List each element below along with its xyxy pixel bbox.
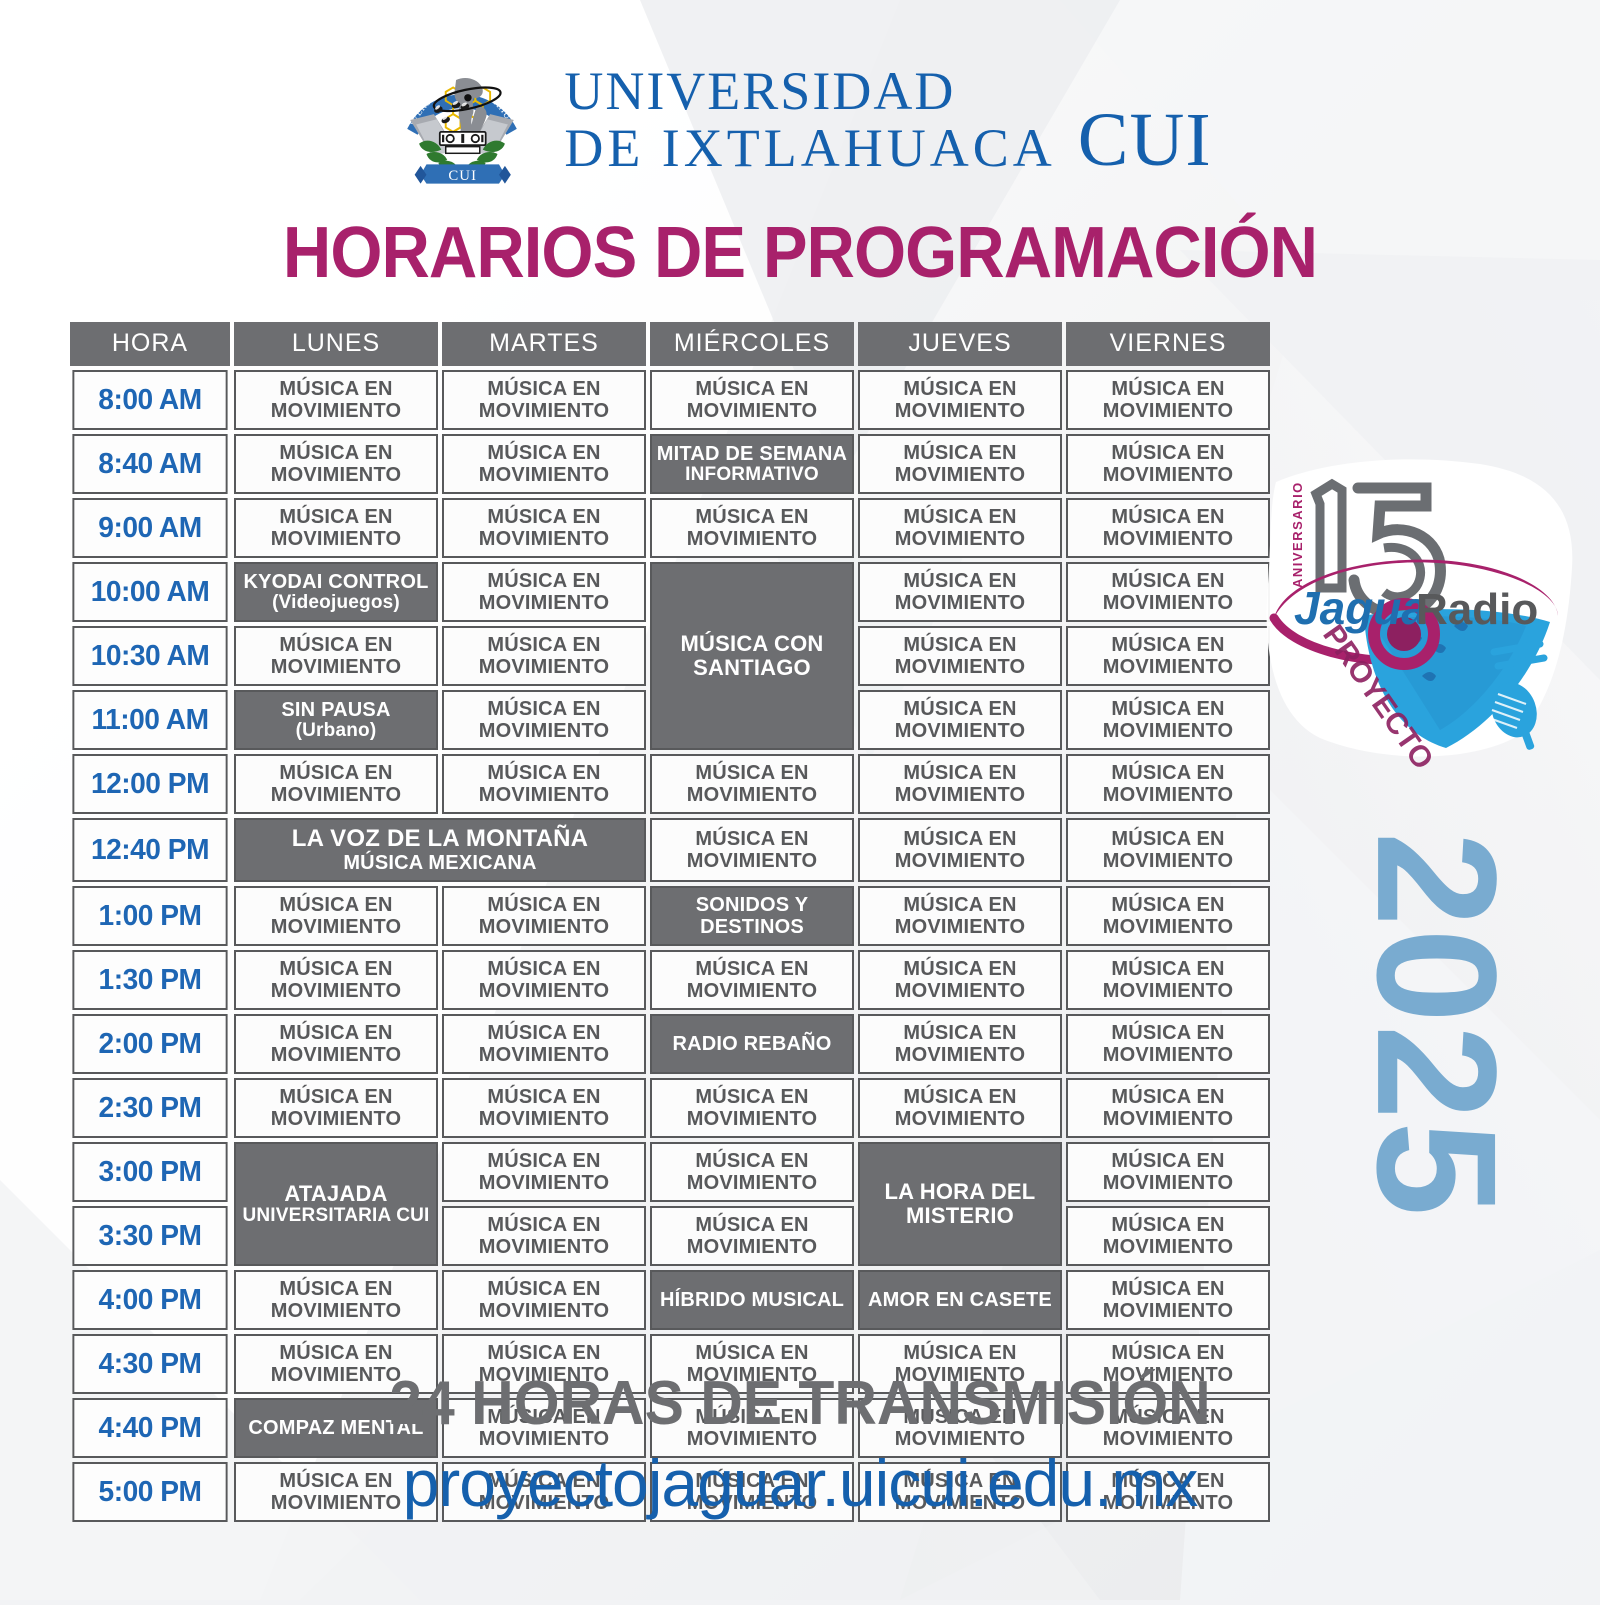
time-cell: 8:00 AM [72,370,227,430]
program-title: MÚSICA EN MOVIMIENTO [479,894,610,938]
program-cell: MÚSICA EN MOVIMIENTO [650,754,854,814]
program-cell: MÚSICA EN MOVIMIENTO [858,626,1062,686]
program-title: MÚSICA EN MOVIMIENTO [687,1214,818,1258]
program-cell: MÚSICA EN MOVIMIENTO [234,498,438,558]
program-cell: MÚSICA EN MOVIMIENTO [1066,562,1270,622]
time-cell: 2:30 PM [72,1078,227,1138]
program-title: MÚSICA EN MOVIMIENTO [479,1278,610,1322]
program-cell: MÚSICA EN MOVIMIENTO [650,498,854,558]
column-header-hora: HORA [70,322,230,366]
programming-schedule-table: HORALUNESMARTESMIÉRCOLESJUEVESVIERNES 8:… [66,318,1274,1526]
program-title: MÚSICA EN MOVIMIENTO [895,958,1026,1002]
table-body: 8:00 AMMÚSICA EN MOVIMIENTOMÚSICA EN MOV… [70,370,1270,1522]
program-title: LA VOZ DE LA MONTAÑA [292,825,588,852]
program-title: ATAJADA [284,1181,387,1206]
table-row: 8:40 AMMÚSICA EN MOVIMIENTOMÚSICA EN MOV… [70,434,1270,494]
program-title: MÚSICA EN MOVIMIENTO [1103,1150,1234,1194]
program-cell: MÚSICA EN MOVIMIENTO [650,1142,854,1202]
table-row: 9:00 AMMÚSICA EN MOVIMIENTOMÚSICA EN MOV… [70,498,1270,558]
program-title: MÚSICA EN MOVIMIENTO [479,698,610,742]
program-title: MÚSICA EN MOVIMIENTO [479,378,610,422]
program-title: MÚSICA EN MOVIMIENTO [271,1086,402,1130]
program-title: MÚSICA EN MOVIMIENTO [479,1214,610,1258]
program-cell: MÚSICA EN MOVIMIENTO [1066,498,1270,558]
program-cell: MÚSICA EN MOVIMIENTO [858,562,1062,622]
table-row: 2:00 PMMÚSICA EN MOVIMIENTOMÚSICA EN MOV… [70,1014,1270,1074]
program-title: MÚSICA EN MOVIMIENTO [479,1150,610,1194]
program-title: MÚSICA EN MOVIMIENTO [1103,634,1234,678]
program-title: MÚSICA EN MOVIMIENTO [271,506,402,550]
university-header: UNIVERSIDAD DE IXTLAHUACA [0,40,1600,200]
program-cell: MÚSICA EN MOVIMIENTO [1066,1142,1270,1202]
column-header-jueves: JUEVES [858,322,1062,366]
time-cell: 12:40 PM [72,818,227,882]
program-title: MITAD DE SEMANA [657,443,847,465]
column-header-lunes: LUNES [234,322,438,366]
jaguar-radio-wordmark: Jagua Radio [1294,582,1538,634]
program-title: MÚSICA EN MOVIMIENTO [895,828,1026,872]
university-wordmark: UNIVERSIDAD DE IXTLAHUACA CUI [564,64,1211,176]
time-cell: 11:00 AM [72,690,227,750]
page-title: HORARIOS DE PROGRAMACIÓN [56,212,1544,294]
year-text: 2025 [1338,832,1534,1218]
program-cell: MÚSICA EN MOVIMIENTO [234,434,438,494]
program-title: MÚSICA EN MOVIMIENTO [271,958,402,1002]
program-cell: MÚSICA EN MOVIMIENTO [858,434,1062,494]
program-cell: MÚSICA EN MOVIMIENTO [1066,1206,1270,1266]
program-title: MÚSICA EN MOVIMIENTO [1103,894,1234,938]
schedule-table-container: HORALUNESMARTESMIÉRCOLESJUEVESVIERNES 8:… [66,318,1248,1526]
time-cell: 10:00 AM [72,562,227,622]
program-title: MÚSICA EN MOVIMIENTO [1103,1086,1234,1130]
jaguar-radio-logo: ANIVERSARIO Jagua Radio PROYECTO [1258,448,1588,768]
program-title: MÚSICA EN MOVIMIENTO [895,442,1026,486]
program-cell: MÚSICA EN MOVIMIENTO [858,818,1062,882]
program-title: MÚSICA EN MOVIMIENTO [1103,828,1234,872]
program-cell: MÚSICA EN MOVIMIENTO [442,950,646,1010]
program-subtitle: (Videojuegos) [239,593,433,614]
program-title: MÚSICA EN MOVIMIENTO [687,762,818,806]
program-cell: MÚSICA EN MOVIMIENTO [234,1078,438,1138]
program-cell-special: KYODAI CONTROL(Videojuegos) [234,562,438,622]
program-cell: MÚSICA EN MOVIMIENTO [442,1142,646,1202]
program-cell: MÚSICA EN MOVIMIENTO [858,886,1062,946]
program-title: MÚSICA EN MOVIMIENTO [1103,1278,1234,1322]
program-cell: MÚSICA EN MOVIMIENTO [1066,818,1270,882]
program-cell: MÚSICA EN MOVIMIENTO [858,1078,1062,1138]
program-cell: MÚSICA EN MOVIMIENTO [234,754,438,814]
program-cell: MÚSICA EN MOVIMIENTO [1066,1014,1270,1074]
university-name-line2: DE IXTLAHUACA [564,121,1055,176]
program-cell: MÚSICA EN MOVIMIENTO [1066,1270,1270,1330]
program-cell-special: HÍBRIDO MUSICAL [650,1270,854,1330]
crest-ribbon-text: CUI [449,168,478,184]
program-title: MÚSICA EN MOVIMIENTO [1103,762,1234,806]
university-abbrev: CUI [1078,107,1212,176]
table-row: 1:00 PMMÚSICA EN MOVIMIENTOMÚSICA EN MOV… [70,886,1270,946]
program-cell-special: LA HORA DEL MISTERIO [858,1142,1062,1266]
table-row: 12:00 PMMÚSICA EN MOVIMIENTOMÚSICA EN MO… [70,754,1270,814]
program-cell: MÚSICA EN MOVIMIENTO [442,498,646,558]
time-cell: 10:30 AM [72,626,227,686]
program-cell: MÚSICA EN MOVIMIENTO [650,1078,854,1138]
program-title: MÚSICA EN MOVIMIENTO [687,958,818,1002]
program-title: MÚSICA CON SANTIAGO [681,631,824,680]
time-cell: 8:40 AM [72,434,227,494]
program-cell: MÚSICA EN MOVIMIENTO [650,818,854,882]
program-cell-special: ATAJADAUNIVERSITARIA CUI [234,1142,438,1266]
program-title: MÚSICA EN MOVIMIENTO [895,698,1026,742]
program-cell: MÚSICA EN MOVIMIENTO [650,950,854,1010]
program-title: MÚSICA EN MOVIMIENTO [271,762,402,806]
program-title: MÚSICA EN MOVIMIENTO [687,828,818,872]
program-subtitle: UNIVERSITARIA CUI [239,1206,433,1227]
program-title: SONIDOS Y DESTINOS [696,894,809,938]
university-name-line1: UNIVERSIDAD [564,64,1055,119]
time-cell: 1:30 PM [72,950,227,1010]
program-subtitle: INFORMATIVO [655,465,849,486]
program-cell: MÚSICA EN MOVIMIENTO [1066,370,1270,430]
program-title: MÚSICA EN MOVIMIENTO [479,1022,610,1066]
program-title: MÚSICA EN MOVIMIENTO [687,506,818,550]
logo-name-part2: Radio [1416,585,1538,634]
program-title: MÚSICA EN MOVIMIENTO [479,958,610,1002]
program-cell: MÚSICA EN MOVIMIENTO [442,1078,646,1138]
program-title: MÚSICA EN MOVIMIENTO [895,570,1026,614]
column-header-martes: MARTES [442,322,646,366]
program-title: MÚSICA EN MOVIMIENTO [687,378,818,422]
program-cell: MÚSICA EN MOVIMIENTO [1066,950,1270,1010]
program-cell-special: SIN PAUSA(Urbano) [234,690,438,750]
program-title: KYODAI CONTROL [243,571,428,593]
broadcast-hours-text: 24 HORAS DE TRANSMISIÓN [40,1368,1560,1439]
program-title: MÚSICA EN MOVIMIENTO [1103,958,1234,1002]
program-title: MÚSICA EN MOVIMIENTO [479,762,610,806]
program-title: MÚSICA EN MOVIMIENTO [895,1086,1026,1130]
time-cell: 4:00 PM [72,1270,227,1330]
program-cell-special: RADIO REBAÑO [650,1014,854,1074]
program-title: MÚSICA EN MOVIMIENTO [271,442,402,486]
program-cell-special: LA VOZ DE LA MONTAÑAMÚSICA MEXICANA [234,818,646,882]
program-cell: MÚSICA EN MOVIMIENTO [442,1206,646,1266]
program-cell: MÚSICA EN MOVIMIENTO [858,1014,1062,1074]
program-subtitle: (Urbano) [239,721,433,742]
year-label: 2025 [1286,800,1586,1250]
program-title: LA HORA DEL MISTERIO [885,1179,1036,1228]
program-cell-special: MITAD DE SEMANAINFORMATIVO [650,434,854,494]
footer: 24 HORAS DE TRANSMISIÓN proyectojaguar.u… [0,1368,1600,1521]
program-title: MÚSICA EN MOVIMIENTO [895,894,1026,938]
program-title: MÚSICA EN MOVIMIENTO [271,634,402,678]
program-cell: MÚSICA EN MOVIMIENTO [442,434,646,494]
time-cell: 3:00 PM [72,1142,227,1202]
anniversary-word: ANIVERSARIO [1290,481,1305,588]
program-cell: MÚSICA EN MOVIMIENTO [650,370,854,430]
program-cell: MÚSICA EN MOVIMIENTO [1066,690,1270,750]
table-header-row: HORALUNESMARTESMIÉRCOLESJUEVESVIERNES [70,322,1270,366]
program-cell: MÚSICA EN MOVIMIENTO [442,370,646,430]
program-cell: MÚSICA EN MOVIMIENTO [858,950,1062,1010]
program-cell: MÚSICA EN MOVIMIENTO [234,370,438,430]
program-cell: MÚSICA EN MOVIMIENTO [1066,886,1270,946]
program-title: MÚSICA EN MOVIMIENTO [1103,1214,1234,1258]
program-cell: MÚSICA EN MOVIMIENTO [1066,754,1270,814]
time-cell: 3:30 PM [72,1206,227,1266]
program-title: MÚSICA EN MOVIMIENTO [271,1022,402,1066]
program-cell: MÚSICA EN MOVIMIENTO [442,562,646,622]
program-title: MÚSICA EN MOVIMIENTO [1103,698,1234,742]
program-title: MÚSICA EN MOVIMIENTO [895,634,1026,678]
program-title: RADIO REBAÑO [672,1033,831,1055]
program-title: MÚSICA EN MOVIMIENTO [479,506,610,550]
program-cell-special: AMOR EN CASETE [858,1270,1062,1330]
program-cell: MÚSICA EN MOVIMIENTO [442,690,646,750]
website-url[interactable]: proyectojaguar.uicui.edu.mx [0,1445,1600,1521]
program-title: MÚSICA EN MOVIMIENTO [1103,506,1234,550]
program-title: MÚSICA EN MOVIMIENTO [271,1278,402,1322]
time-cell: 12:00 PM [72,754,227,814]
program-cell: MÚSICA EN MOVIMIENTO [442,754,646,814]
program-cell: MÚSICA EN MOVIMIENTO [234,950,438,1010]
time-cell: 9:00 AM [72,498,227,558]
program-cell-special: SONIDOS Y DESTINOS [650,886,854,946]
program-title: HÍBRIDO MUSICAL [660,1289,844,1311]
table-row: 12:40 PMLA VOZ DE LA MONTAÑAMÚSICA MEXIC… [70,818,1270,882]
column-header-viernes: VIERNES [1066,322,1270,366]
program-title: MÚSICA EN MOVIMIENTO [895,762,1026,806]
program-title: MÚSICA EN MOVIMIENTO [1103,570,1234,614]
time-cell: 2:00 PM [72,1014,227,1074]
program-cell: MÚSICA EN MOVIMIENTO [1066,1078,1270,1138]
program-cell: MÚSICA EN MOVIMIENTO [1066,434,1270,494]
program-cell: MÚSICA EN MOVIMIENTO [858,690,1062,750]
program-cell: MÚSICA EN MOVIMIENTO [442,626,646,686]
time-cell: 1:00 PM [72,886,227,946]
program-title: MÚSICA EN MOVIMIENTO [1103,1022,1234,1066]
program-cell: MÚSICA EN MOVIMIENTO [442,1014,646,1074]
program-title: MÚSICA EN MOVIMIENTO [271,894,402,938]
program-cell: MÚSICA EN MOVIMIENTO [858,498,1062,558]
program-cell: MÚSICA EN MOVIMIENTO [442,1270,646,1330]
program-title: MÚSICA EN MOVIMIENTO [895,506,1026,550]
program-title: MÚSICA EN MOVIMIENTO [687,1150,818,1194]
program-title: MÚSICA EN MOVIMIENTO [479,634,610,678]
program-title: MÚSICA EN MOVIMIENTO [479,442,610,486]
program-subtitle: MÚSICA MEXICANA [239,852,641,874]
table-row: 1:30 PMMÚSICA EN MOVIMIENTOMÚSICA EN MOV… [70,950,1270,1010]
logo-name-part1: Jagua [1294,582,1427,634]
program-title: MÚSICA EN MOVIMIENTO [895,1022,1026,1066]
program-cell: MÚSICA EN MOVIMIENTO [234,886,438,946]
program-cell: MÚSICA EN MOVIMIENTO [234,1014,438,1074]
program-title: MÚSICA EN MOVIMIENTO [271,378,402,422]
program-title: MÚSICA EN MOVIMIENTO [479,570,610,614]
program-cell: MÚSICA EN MOVIMIENTO [858,370,1062,430]
program-title: MÚSICA EN MOVIMIENTO [479,1086,610,1130]
table-row: 4:00 PMMÚSICA EN MOVIMIENTOMÚSICA EN MOV… [70,1270,1270,1330]
table-row: 3:00 PMATAJADAUNIVERSITARIA CUIMÚSICA EN… [70,1142,1270,1202]
program-cell: MÚSICA EN MOVIMIENTO [442,886,646,946]
table-row: 8:00 AMMÚSICA EN MOVIMIENTOMÚSICA EN MOV… [70,370,1270,430]
program-cell: MÚSICA EN MOVIMIENTO [858,754,1062,814]
program-title: MÚSICA EN MOVIMIENTO [1103,442,1234,486]
program-title: MÚSICA EN MOVIMIENTO [895,378,1026,422]
table-row: 2:30 PMMÚSICA EN MOVIMIENTOMÚSICA EN MOV… [70,1078,1270,1138]
column-header-mircoles: MIÉRCOLES [650,322,854,366]
program-cell: MÚSICA EN MOVIMIENTO [234,1270,438,1330]
program-cell: MÚSICA EN MOVIMIENTO [234,626,438,686]
table-row: 10:00 AMKYODAI CONTROL(Videojuegos)MÚSIC… [70,562,1270,622]
program-title: SIN PAUSA [281,699,390,721]
university-crest-logo: UNIVERSIDAD DE IXTLAHUACA [388,46,536,194]
program-cell-special: MÚSICA CON SANTIAGO [650,562,854,750]
program-title: AMOR EN CASETE [868,1289,1052,1311]
program-cell: MÚSICA EN MOVIMIENTO [650,1206,854,1266]
program-cell: MÚSICA EN MOVIMIENTO [1066,626,1270,686]
program-title: MÚSICA EN MOVIMIENTO [1103,378,1234,422]
program-title: MÚSICA EN MOVIMIENTO [687,1086,818,1130]
